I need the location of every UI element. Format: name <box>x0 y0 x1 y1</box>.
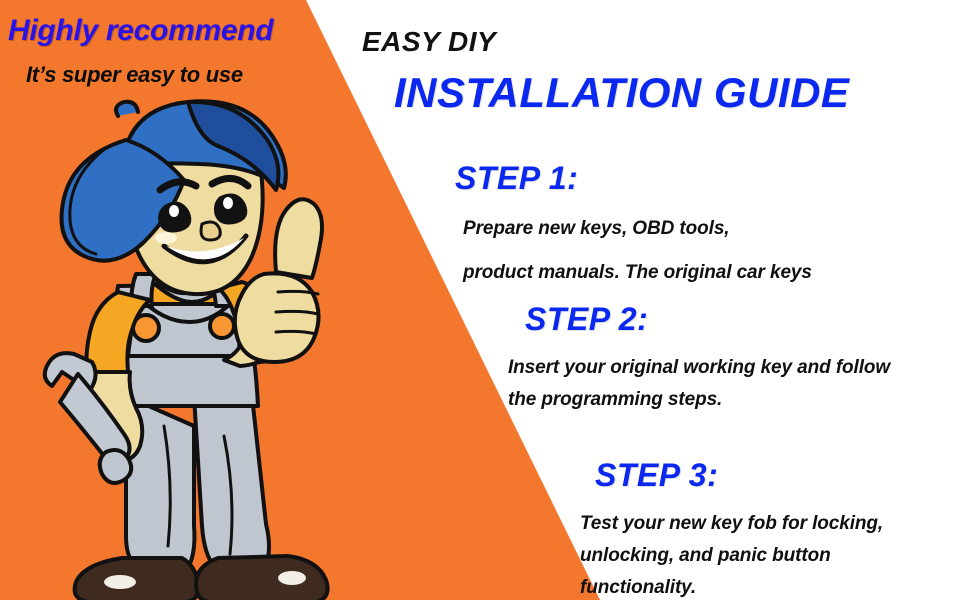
nose <box>201 222 220 240</box>
step-3-line-2: unlocking, and panic button <box>580 540 883 572</box>
step-2-heading: STEP 2: <box>525 301 648 338</box>
step-1-body: Prepare new keys, OBD tools, product man… <box>463 207 812 295</box>
super-easy-subtext: It’s super easy to use <box>26 62 243 88</box>
step-3-line-3: functionality. <box>580 572 883 600</box>
cheek-highlight <box>155 232 177 244</box>
boot-right-highlight <box>278 571 306 585</box>
eyebrow-easy-diy: EASY DIY <box>362 26 496 58</box>
fist <box>235 273 319 362</box>
wrench-tail <box>100 450 131 483</box>
step-2-line-1: Insert your original working key and fol… <box>508 352 890 384</box>
thumb <box>275 199 322 278</box>
step-2-body: Insert your original working key and fol… <box>508 352 890 416</box>
page-title: INSTALLATION GUIDE <box>394 69 849 117</box>
overall-button-right <box>210 314 234 338</box>
boot-right <box>196 556 328 600</box>
step-1-line-1: Prepare new keys, OBD tools, <box>463 207 812 251</box>
step-2-line-2: the programming steps. <box>508 384 890 416</box>
step-1-line-2: product manuals. The original car keys <box>463 251 812 295</box>
step-3-body: Test your new key fob for locking, unloc… <box>580 508 883 600</box>
boot-left-highlight <box>104 575 136 589</box>
step-3-heading: STEP 3: <box>595 457 718 494</box>
step-3-line-1: Test your new key fob for locking, <box>580 508 883 540</box>
eye-right-glint <box>223 197 233 209</box>
mechanic-thumbs-up-illustration <box>14 96 364 600</box>
eye-left-glint <box>169 205 179 217</box>
boot-left <box>75 558 199 600</box>
step-1-heading: STEP 1: <box>455 160 578 197</box>
cap-button <box>116 102 138 116</box>
installation-guide-banner: Highly recommend It’s super easy to use <box>0 0 970 600</box>
highly-recommend-headline: Highly recommend <box>8 14 273 48</box>
